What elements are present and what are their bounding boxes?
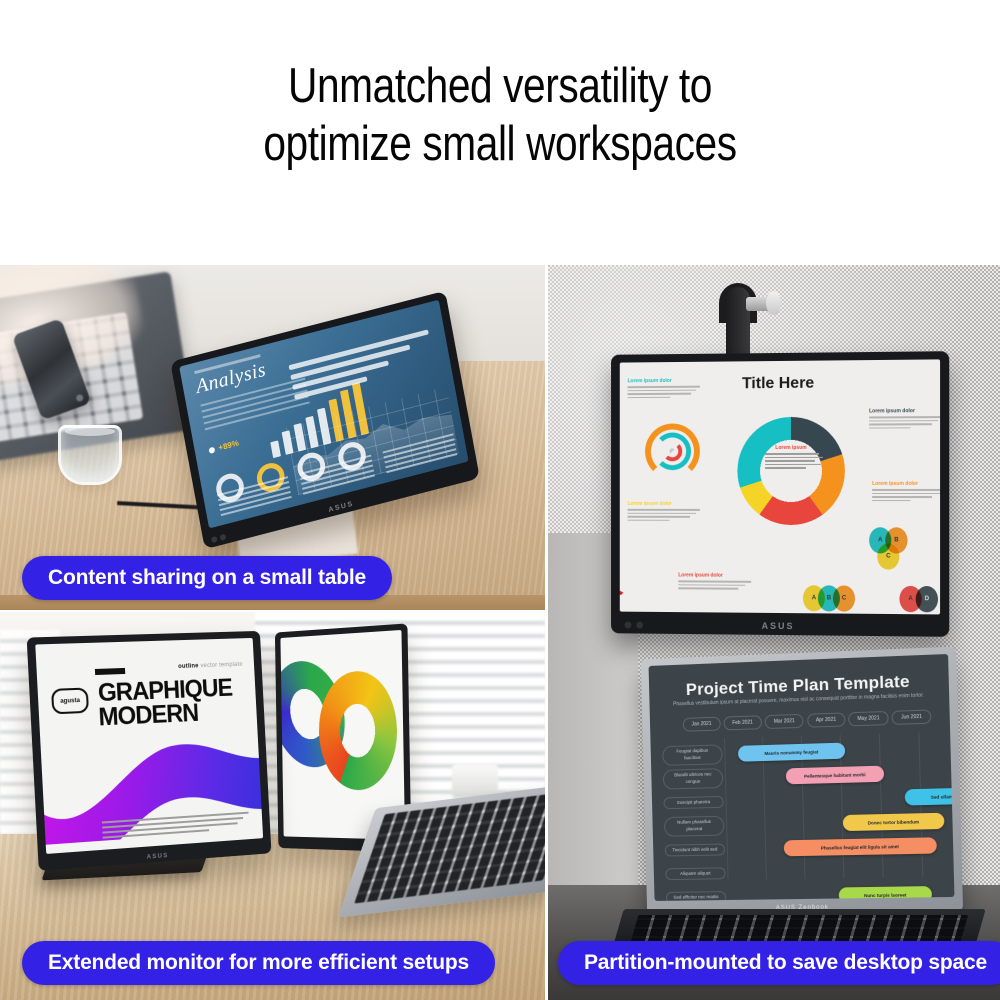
caption-content-sharing: Content sharing on a small table (22, 556, 392, 600)
gantt-month: Apr 2021 (807, 712, 846, 727)
venn-diagram-abc: A B C (869, 527, 926, 580)
gantt-row-label: Suscipit pharetra (663, 795, 723, 809)
gantt-row-label: Nullam phasellus placerat (664, 816, 725, 837)
rainbow-ribbon-artwork (286, 651, 402, 805)
gantt-month: Feb 2021 (723, 715, 762, 730)
laptop-screen-gantt: Project Time Plan Template Phasellus ves… (649, 654, 955, 901)
caption-extended-monitor: Extended monitor for more efficient setu… (22, 941, 495, 985)
donut-center-label: Lorem ipsum (759, 439, 823, 503)
asus-logo: ASUS (762, 621, 795, 631)
phone-camera-icon (75, 393, 84, 402)
portable-monitor-primary: agusta outline vector template GRAPHIQUE… (27, 631, 272, 871)
headline-line-1: Unmatched versatility to (85, 58, 915, 116)
slide-callout: Lorem ipsum dolor (678, 572, 751, 591)
mount-thumbscrew-cap (766, 291, 781, 315)
gantt-row-label: Blandit ultrices nec congue (663, 768, 724, 789)
kpi-value: +89% (218, 438, 240, 452)
gantt-month: Jan 2021 (683, 717, 721, 732)
poster-title-line-2: MODERN (98, 699, 199, 733)
gantt-month: Mar 2021 (765, 714, 804, 729)
gantt-task-bar: Nunc turpis laoreet (839, 886, 932, 901)
dashboard-kpi: +89% (208, 438, 239, 455)
gantt-task-bar: Pellentesque habitant morbi (786, 766, 884, 785)
panel-partition-mounted: Title Here Lorem ipsum dolor Lorem ipsum… (548, 265, 1000, 1000)
kpi-marker-icon (208, 446, 215, 453)
slide-callout: Lorem ipsum dolor (628, 501, 700, 523)
red-arrow-annotation-icon (620, 592, 622, 595)
venn-diagram-linear: A B C (803, 585, 873, 614)
page-title: Unmatched versatility to optimize small … (85, 58, 915, 174)
slide-callout: Lorem ipsum dolor (872, 481, 940, 503)
poster-eyebrow-light: vector template (200, 662, 242, 669)
portable-monitor-mounted: Title Here Lorem ipsum dolor Lorem ipsum… (611, 351, 949, 637)
poster-rule (95, 668, 125, 675)
asus-logo: ASUS (147, 853, 169, 861)
donut-center-heading: Lorem ipsum (759, 445, 823, 451)
gantt-row-label: Tincidunt nibh velit sed (665, 843, 725, 857)
gantt-row-label: Aliquam aliquet (665, 867, 725, 881)
monitor-buttons (211, 534, 227, 544)
poster-badge: agusta (51, 687, 89, 714)
desk-cup (452, 764, 498, 798)
venn-label: C (833, 585, 855, 611)
gantt-row-label: Feugiat dapibus faucibus (662, 744, 723, 765)
callout-heading: Lorem ipsum dolor (872, 481, 940, 487)
slide-title: Title Here (742, 375, 814, 394)
slide-callout: Lorem ipsum dolor (628, 378, 700, 400)
venn-diagram-pair: A D (899, 586, 940, 615)
product-marketing-image: Unmatched versatility to optimize small … (0, 0, 1000, 1000)
monitor-screen-slide: Title Here Lorem ipsum dolor Lorem ipsum… (620, 359, 940, 614)
gantt-task-bar: Donec tortor bibendum (843, 813, 945, 831)
gantt-row-label: Sed efficitur nec mattis (666, 891, 726, 901)
callout-heading: Lorem ipsum dolor (628, 378, 700, 385)
ribbon-loop-orange-yellow (318, 669, 398, 790)
gantt-rows: Feugiat dapibus faucibusMauris nonummy f… (662, 736, 944, 880)
gantt-month: Jun 2021 (892, 709, 932, 724)
gantt-row: Sed efficitur nec mattisNunc turpis laor… (666, 882, 945, 901)
poster-eyebrow-bold: outline (178, 663, 199, 670)
laptop-mounted-below: Project Time Plan Template Phasellus ves… (641, 647, 963, 915)
callout-heading: Lorem ipsum dolor (628, 501, 700, 507)
monitor-screen-primary: agusta outline vector template GRAPHIQUE… (35, 638, 263, 854)
caption-partition-mounted: Partition-mounted to save desktop space (558, 941, 1000, 985)
spiral-chart (645, 423, 700, 479)
monitor-buttons (625, 622, 643, 629)
callout-heading: Lorem ipsum dolor (869, 408, 940, 415)
headline-line-2: optimize small workspaces (85, 116, 915, 174)
gantt-task-bar: Mauris nonummy feugiat (738, 743, 845, 762)
venn-label: C (877, 543, 899, 569)
callout-heading: Lorem ipsum dolor (678, 572, 751, 578)
gantt-month: May 2021 (848, 711, 889, 726)
poster-eyebrow: outline vector template (178, 662, 243, 670)
venn-label: D (916, 586, 938, 612)
laptop-keyboard (354, 791, 545, 904)
gantt-task-bar: Phasellus feugiat elit ligula sit amet (784, 837, 937, 856)
gantt-task-bar: Sed ullamcorper ut lacinia (905, 787, 955, 806)
gantt-month-axis: Jan 2021 Feb 2021 Mar 2021 Apr 2021 May … (683, 709, 932, 731)
slide-callout: Lorem ipsum dolor (869, 408, 940, 431)
water-glass (58, 425, 122, 485)
